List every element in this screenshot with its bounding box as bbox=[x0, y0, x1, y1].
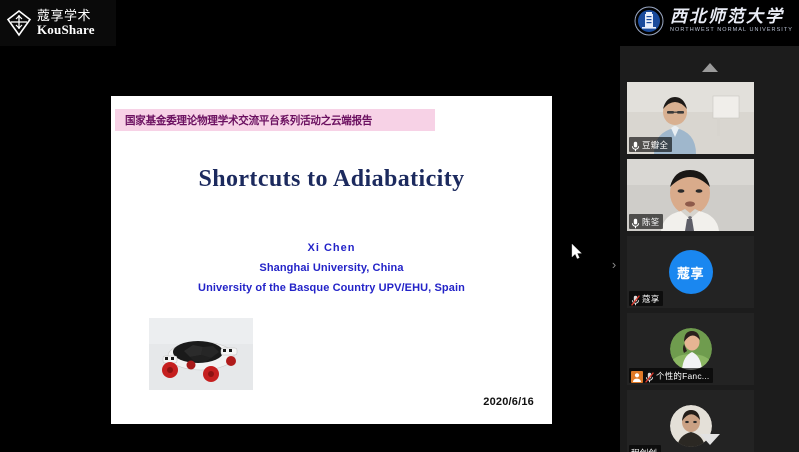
participant-thumbnail-sidebar[interactable]: 豆瓣全 bbox=[620, 46, 799, 452]
turtle-robot-icon bbox=[149, 318, 253, 390]
triangle-down-icon bbox=[700, 434, 720, 445]
mouse-pointer-icon bbox=[571, 244, 583, 260]
scroll-up-arrow-icon[interactable] bbox=[620, 58, 799, 76]
university-seal-icon bbox=[634, 6, 664, 36]
koushare-diamond-logo-icon bbox=[6, 9, 32, 37]
mic-on-icon bbox=[631, 216, 640, 227]
university-wordmark: 西北师范大学 NORTHWEST NORMAL UNIVERSITY bbox=[670, 8, 793, 34]
participant-tile-2[interactable]: 陈筌 bbox=[627, 159, 754, 231]
participant-tile-3[interactable]: 蔻享 蔻享 bbox=[627, 236, 754, 308]
slide-author-block: Xi Chen Shanghai University, China Unive… bbox=[111, 238, 552, 298]
host-badge-icon bbox=[631, 370, 643, 382]
participant-name-1: 豆瓣全 bbox=[642, 139, 668, 151]
slide-date: 2020/6/16 bbox=[483, 396, 534, 408]
university-logo: 西北师范大学 NORTHWEST NORMAL UNIVERSITY bbox=[634, 3, 793, 39]
slide-affiliation-2: University of the Basque Country UPV/EHU… bbox=[111, 278, 552, 298]
university-name-cn: 西北师范大学 bbox=[670, 8, 784, 25]
meeting-screen: 国家基金委理论物理学术交流平台系列活动之云端报告 Shortcuts to Ad… bbox=[0, 0, 799, 452]
slide-affiliation-1: Shanghai University, China bbox=[111, 258, 552, 278]
shared-screen-stage: 国家基金委理论物理学术交流平台系列活动之云端报告 Shortcuts to Ad… bbox=[0, 0, 620, 452]
koushare-name-cn: 蔻享学术 bbox=[37, 9, 95, 23]
participant-name-chip-4: 个性的Fanc... bbox=[629, 368, 713, 383]
participant-name-chip-2: 陈筌 bbox=[629, 214, 663, 229]
mic-on-icon bbox=[631, 139, 640, 150]
participant-name-chip-1: 豆瓣全 bbox=[629, 137, 672, 152]
scroll-down-arrow-icon[interactable] bbox=[620, 430, 799, 448]
koushare-wordmark: 蔻享学术 KouShare bbox=[37, 9, 95, 36]
participant-tile-1[interactable]: 豆瓣全 bbox=[627, 82, 754, 154]
triangle-up-icon bbox=[702, 63, 718, 72]
university-name-en: NORTHWEST NORMAL UNIVERSITY bbox=[670, 28, 793, 34]
mic-muted-icon bbox=[631, 293, 640, 304]
brand-avatar-koushare: 蔻享 bbox=[669, 250, 713, 294]
slide-author-name: Xi Chen bbox=[111, 238, 552, 258]
participant-name-3: 蔻享 bbox=[642, 293, 659, 305]
slide-banner-text: 国家基金委理论物理学术交流平台系列活动之云端报告 bbox=[115, 112, 372, 128]
mic-muted-icon bbox=[645, 370, 654, 381]
photo-avatar-child bbox=[670, 328, 712, 370]
koushare-name-en: KouShare bbox=[37, 23, 95, 37]
slide-title: Shortcuts to Adiabaticity bbox=[111, 166, 552, 193]
participant-tile-4[interactable]: 个性的Fanc... bbox=[627, 313, 754, 385]
slide-banner: 国家基金委理论物理学术交流平台系列活动之云端报告 bbox=[115, 109, 435, 131]
participant-name-4: 个性的Fanc... bbox=[656, 370, 709, 382]
participant-name-2: 陈筌 bbox=[642, 216, 659, 228]
participant-name-chip-3: 蔻享 bbox=[629, 291, 663, 306]
collapse-panel-chevron-icon[interactable]: › bbox=[608, 254, 620, 274]
slide-figure-turtle-robot bbox=[149, 318, 253, 390]
koushare-watermark: 蔻享学术 KouShare bbox=[0, 0, 116, 46]
presentation-slide: 国家基金委理论物理学术交流平台系列活动之云端报告 Shortcuts to Ad… bbox=[111, 96, 552, 424]
